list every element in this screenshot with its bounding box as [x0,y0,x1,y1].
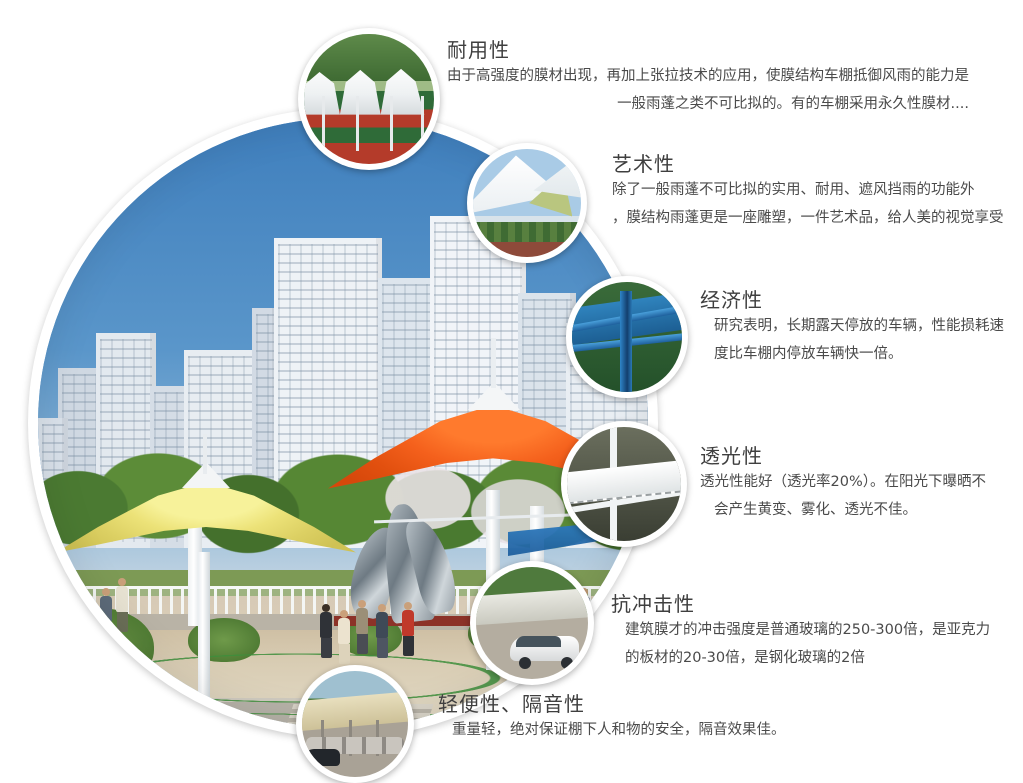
feature-thumb-artistry-image [473,149,581,257]
tent-post [356,96,359,151]
feature-line: 透光性能好（透光率20%）。在阳光下曝晒不 [700,469,986,497]
feature-line: 重量轻，绝对保证棚下人和物的安全，隔音效果佳。 [438,717,786,745]
feature-thumb-durability-image [304,34,434,164]
suv-wheel [519,657,531,669]
feature-text-lightweight-soundproof: 轻便性、隔音性 重量轻，绝对保证棚下人和物的安全，隔音效果佳。 [438,692,786,745]
feature-thumb-artistry[interactable] [467,143,587,263]
feature-line: 会产生黄变、雾化、透光不佳。 [700,497,986,525]
feature-thumb-durability[interactable] [298,28,440,170]
feature-text-translucency: 透光性 透光性能好（透光率20%）。在阳光下曝晒不 会产生黄变、雾化、透光不佳。 [700,444,986,524]
feature-line: 研究表明，长期露天停放的车辆，性能损耗速 [700,313,1004,341]
feature-thumb-lightweight-soundproof-image [302,671,408,777]
feature-line: ，膜结构雨蓬更是一座雕塑，一件艺术品，给人美的视觉享受 [612,205,1004,233]
feature-heading-impact-resistance: 抗冲击性 [611,592,990,617]
tent-post [421,96,424,151]
feature-text-artistry: 艺术性 除了一般雨蓬不可比拟的实用、耐用、遮风挡雨的功能外 ，膜结构雨蓬更是一座… [612,152,1004,232]
feature-thumb-impact-resistance[interactable] [470,561,594,685]
tent-post [390,96,393,151]
feature-thumb-lightweight-soundproof[interactable] [296,665,414,783]
feature-heading-economy: 经济性 [700,288,1004,313]
feature-heading-artistry: 艺术性 [612,152,1004,177]
suv-wheel [561,657,573,669]
feature-heading-durability: 耐用性 [447,38,969,63]
feature-thumb-impact-resistance-image [476,567,588,679]
feature-text-economy: 经济性 研究表明，长期露天停放的车辆，性能损耗速 度比车棚内停放车辆快一倍。 [700,288,1004,368]
feature-thumb-translucency-image [567,427,681,541]
feature-thumb-economy-image [572,282,682,392]
feature-thumb-translucency[interactable] [561,421,687,547]
suv-windows [516,636,561,646]
pedestrian [594,592,606,646]
feature-thumb-economy[interactable] [566,276,688,398]
feature-line: 建筑膜才的冲击强度是普通玻璃的250-300倍，是亚克力 [611,617,990,645]
feature-line: 度比车棚内停放车辆快一倍。 [700,341,1004,369]
infographic-canvas: 耐用性 由于高强度的膜材出现，再加上张拉技术的应用，使膜结构车棚抵御风雨的能力是… [0,0,1023,782]
feature-line: 除了一般雨蓬不可比拟的实用、耐用、遮风挡雨的功能外 [612,177,1004,205]
feature-text-impact-resistance: 抗冲击性 建筑膜才的冲击强度是普通玻璃的250-300倍，是亚克力 的板材的20… [611,592,990,672]
feature-text-durability: 耐用性 由于高强度的膜材出现，再加上张拉技术的应用，使膜结构车棚抵御风雨的能力是… [447,38,969,118]
feature-line: 一般雨蓬之类不可比拟的。有的车棚采用永久性膜材.... [447,91,969,119]
steel-column [620,291,632,392]
grass-background [304,34,434,81]
dark-parked-car [304,749,340,766]
feature-line: 的板材的20-30倍，是钢化玻璃的2倍 [611,645,990,673]
feature-heading-translucency: 透光性 [700,444,986,469]
hedge-row [473,222,581,241]
feature-heading-lightweight-soundproof: 轻便性、隔音性 [438,692,786,717]
feature-line: 由于高强度的膜材出现，再加上张拉技术的应用，使膜结构车棚抵御风雨的能力是 [447,63,969,91]
tent-post [322,96,325,151]
